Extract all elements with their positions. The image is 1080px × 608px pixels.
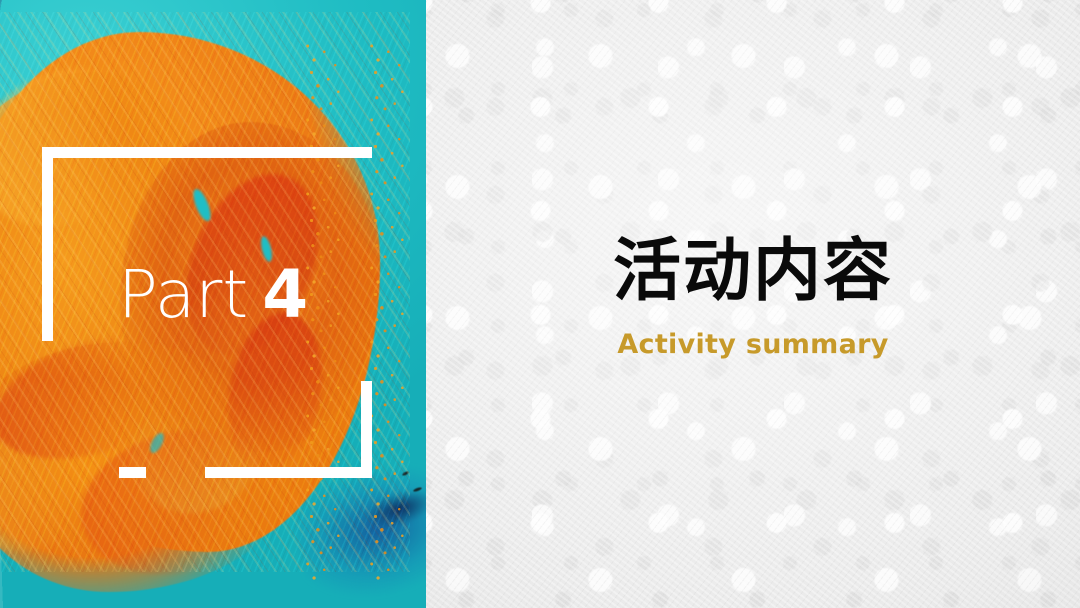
presentation-slide: Part 4 活动内容 Activity summary — [0, 0, 1080, 608]
part-word-text: Part — [118, 262, 248, 328]
section-subtitle: Activity summary — [426, 329, 1080, 360]
frame-segment-bottom-stub — [119, 467, 146, 478]
section-number-label: Part 4 — [118, 262, 307, 328]
part-number-text: 4 — [262, 262, 307, 328]
section-title: 活动内容 — [426, 236, 1080, 307]
painted-artwork-panel: Part 4 — [0, 0, 426, 608]
dry-brush-speckle-edge — [300, 40, 426, 580]
frame-segment-top — [42, 147, 372, 158]
section-heading-block: 活动内容 Activity summary — [426, 236, 1080, 360]
frame-segment-right — [361, 381, 372, 478]
paper-texture-panel: 活动内容 Activity summary — [426, 0, 1080, 608]
frame-segment-left — [42, 147, 53, 341]
frame-segment-bottom-long — [205, 467, 372, 478]
